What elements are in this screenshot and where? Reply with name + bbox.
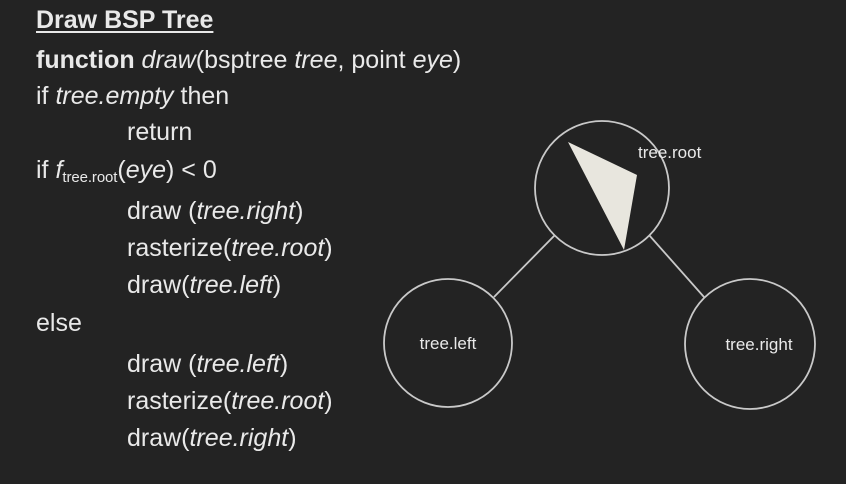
- else-draw-right-line: draw(tree.right): [127, 426, 297, 451]
- param2-name: eye: [413, 46, 453, 74]
- call-name: draw(: [127, 271, 190, 299]
- slide-title: Draw BSP Tree: [36, 8, 213, 33]
- else-keyword-line: else: [36, 311, 82, 336]
- param2-type: point: [351, 46, 405, 74]
- if-front-facing-line: if ftree.root(eye) < 0: [36, 158, 217, 190]
- else-draw-left-line: draw (tree.left): [127, 352, 288, 377]
- plane-function-subscript: tree.root: [62, 169, 117, 186]
- open-paren: (: [117, 156, 125, 184]
- tree-diagram-svg: tree.root tree.left tree.right: [370, 105, 840, 425]
- comparison-tail: ) < 0: [166, 156, 217, 184]
- edge-root-to-left: [494, 235, 555, 297]
- call-argument: tree.left: [190, 271, 273, 299]
- call-argument: tree.root: [231, 234, 324, 262]
- param1-type: bsptree: [204, 46, 287, 74]
- call-name: rasterize(: [127, 234, 231, 262]
- node-label-right: tree.right: [725, 335, 792, 354]
- call-name: draw (: [127, 197, 196, 225]
- splitting-plane-wedge-icon: [568, 142, 637, 250]
- bsp-tree-diagram: tree.root tree.left tree.right: [370, 105, 840, 425]
- open-paren: (: [196, 46, 204, 74]
- node-label-left: tree.left: [420, 334, 477, 353]
- then-keyword: then: [174, 82, 230, 110]
- bsp-tree-slide: Draw BSP Tree function draw(bsptree tree…: [0, 0, 846, 484]
- close-paren: ): [324, 387, 332, 415]
- close-paren: ): [295, 197, 303, 225]
- space: [135, 46, 142, 74]
- if-keyword: if: [36, 156, 55, 184]
- node-label-root: tree.root: [638, 143, 702, 162]
- close-paren: ): [324, 234, 332, 262]
- function-name: draw: [142, 46, 196, 74]
- eye-argument: eye: [126, 156, 166, 184]
- close-paren: ): [273, 271, 281, 299]
- call-argument: tree.root: [231, 387, 324, 415]
- close-paren: ): [453, 46, 461, 74]
- then-draw-right-line: draw (tree.right): [127, 199, 303, 224]
- call-name: draw (: [127, 350, 196, 378]
- edge-root-to-right: [649, 235, 704, 297]
- call-argument: tree.right: [190, 424, 289, 452]
- if-empty-line: if tree.empty then: [36, 84, 229, 109]
- call-argument: tree.left: [196, 350, 279, 378]
- close-paren: ): [280, 350, 288, 378]
- function-signature-line: function draw(bsptree tree, point eye): [36, 48, 461, 73]
- if-empty-condition: tree.empty: [55, 82, 173, 110]
- space: [406, 46, 413, 74]
- function-keyword: function: [36, 46, 135, 74]
- call-argument: tree.right: [196, 197, 295, 225]
- param1-name: tree: [294, 46, 337, 74]
- then-draw-left-line: draw(tree.left): [127, 273, 281, 298]
- return-statement: return: [127, 120, 192, 145]
- else-rasterize-line: rasterize(tree.root): [127, 389, 333, 414]
- close-paren: ): [288, 424, 296, 452]
- if-keyword: if: [36, 82, 55, 110]
- param-separator: ,: [338, 46, 352, 74]
- call-name: draw(: [127, 424, 190, 452]
- call-name: rasterize(: [127, 387, 231, 415]
- then-rasterize-line: rasterize(tree.root): [127, 236, 333, 261]
